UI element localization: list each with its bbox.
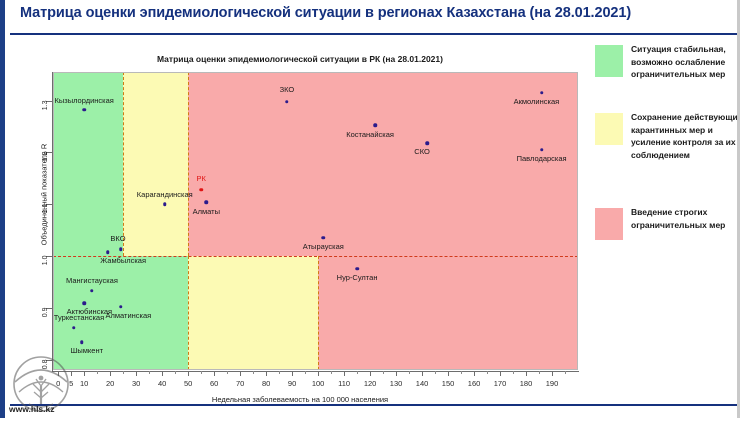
x-tick: [84, 371, 85, 376]
x-tick: [240, 371, 241, 376]
watermark-url: www.hls.kz: [9, 404, 55, 414]
data-point-label: Карагандинская: [137, 190, 193, 199]
data-point[interactable]: [355, 267, 359, 271]
threshold-line-lower-100: [318, 256, 319, 370]
legend-label: Ситуация стабильная, возможно ослабление…: [631, 43, 740, 81]
threshold-line-upper-25: [123, 72, 124, 256]
x-tick-minor: [487, 371, 488, 374]
x-tick: [266, 371, 267, 376]
legend-swatch: [595, 45, 623, 77]
data-point-label: Акмолинская: [514, 97, 560, 106]
x-tick-minor: [253, 371, 254, 374]
x-tick-label: 70: [236, 379, 244, 388]
threshold-line-lower-50: [188, 256, 189, 370]
x-tick-label: 50: [184, 379, 192, 388]
data-point-label: Шымкент: [71, 346, 104, 355]
x-tick-label: 10: [80, 379, 88, 388]
x-tick: [214, 371, 215, 376]
y-tick-label: 0.9: [43, 307, 50, 317]
legend-swatch: [595, 113, 623, 145]
x-tick: [162, 371, 163, 376]
data-point-label: Мангистауская: [66, 276, 118, 285]
y-axis-line: [52, 72, 53, 371]
data-point[interactable]: [119, 305, 123, 309]
x-tick-minor: [305, 371, 306, 374]
page-title: Матрица оценки эпидемиологической ситуац…: [20, 5, 631, 21]
x-tick-label: 100: [312, 379, 325, 388]
data-point[interactable]: [374, 124, 378, 128]
data-point[interactable]: [80, 340, 84, 344]
x-tick: [292, 371, 293, 376]
x-tick-label: 140: [416, 379, 429, 388]
x-tick-minor: [409, 371, 410, 374]
x-tick: [526, 371, 527, 376]
y-axis-label: Объединенный показатель R: [39, 144, 48, 246]
slide-frame: Матрица оценки эпидемиологической ситуац…: [0, 0, 740, 418]
data-point-label: Павлодарская: [517, 154, 567, 163]
y-tick-label: 1.3: [43, 100, 50, 110]
x-tick-minor: [565, 371, 566, 374]
x-tick-label: 30: [132, 379, 140, 388]
threshold-line-upper-50: [188, 72, 189, 256]
data-point[interactable]: [285, 100, 289, 104]
x-tick: [344, 371, 345, 376]
x-tick: [136, 371, 137, 376]
x-tick-minor: [175, 371, 176, 374]
legend-label: Введение строгих ограничительных мер: [631, 206, 740, 231]
x-tick-label: 120: [364, 379, 377, 388]
data-point-label: Нур-Султан: [337, 273, 378, 282]
legend-label: Сохранение действующих карантинных мер и…: [631, 111, 740, 161]
zone-yellow-lower: [188, 256, 318, 370]
x-tick-minor: [435, 371, 436, 374]
data-point-label: Алматинская: [105, 311, 151, 320]
data-point-label: СКО: [414, 147, 430, 156]
data-point[interactable]: [119, 247, 123, 251]
x-tick: [448, 371, 449, 376]
x-tick: [318, 371, 319, 376]
data-point[interactable]: [540, 148, 544, 152]
x-tick-label: 150: [442, 379, 455, 388]
x-axis-label: Недельная заболеваемость на 100 000 насе…: [10, 395, 590, 404]
data-point-label: ЗКО: [280, 85, 295, 94]
x-tick-minor: [513, 371, 514, 374]
data-point[interactable]: [106, 251, 110, 255]
data-point[interactable]: [163, 202, 167, 206]
chart-title: Матрица оценки эпидемиологической ситуац…: [10, 54, 590, 64]
footer-divider: [10, 404, 740, 406]
x-tick-minor: [227, 371, 228, 374]
x-tick: [396, 371, 397, 376]
data-point[interactable]: [82, 301, 86, 305]
x-tick-minor: [383, 371, 384, 374]
x-tick: [552, 371, 553, 376]
legend: Ситуация стабильная, возможно ослабление…: [595, 45, 740, 265]
x-tick-minor: [97, 371, 98, 374]
x-tick-label: 80: [262, 379, 270, 388]
x-tick-minor: [331, 371, 332, 374]
x-tick: [370, 371, 371, 376]
data-point-label: Алматы: [193, 207, 220, 216]
x-tick-label: 60: [210, 379, 218, 388]
x-tick-minor: [149, 371, 150, 374]
data-point[interactable]: [322, 236, 326, 240]
data-point-label: Жамбылская: [100, 256, 146, 265]
y-tick-label: 1.0: [43, 255, 50, 265]
data-point[interactable]: [426, 141, 430, 145]
data-point-label: Кызылординская: [55, 96, 114, 105]
chart-panel: Матрица оценки эпидемиологической ситуац…: [10, 40, 590, 410]
x-tick-minor: [279, 371, 280, 374]
x-tick: [422, 371, 423, 376]
x-tick-label: 190: [546, 379, 559, 388]
x-tick-label: 170: [494, 379, 507, 388]
data-point[interactable]: [82, 108, 86, 112]
data-point-label: Атырауская: [303, 242, 344, 251]
x-tick-label: 90: [288, 379, 296, 388]
data-point-label: Костанайская: [346, 130, 394, 139]
x-tick-label: 160: [468, 379, 481, 388]
x-tick-label: 110: [338, 379, 350, 388]
data-point-label: РК: [196, 174, 205, 183]
x-tick-label: 40: [158, 379, 166, 388]
x-tick-label: 180: [520, 379, 533, 388]
x-tick: [110, 371, 111, 376]
x-tick-minor: [539, 371, 540, 374]
data-point[interactable]: [72, 326, 76, 330]
x-tick: [188, 371, 189, 376]
plot-area: КызылординскаяЗКОАкмолинскаяКостанайская…: [53, 72, 578, 370]
legend-swatch: [595, 208, 623, 240]
header-divider: [10, 33, 740, 35]
data-point[interactable]: [90, 289, 94, 293]
x-tick-minor: [201, 371, 202, 374]
data-point-label: ВКО: [110, 234, 125, 243]
data-point-label: Туркестанская: [54, 313, 104, 322]
slide-header: Матрица оценки эпидемиологической ситуац…: [10, 0, 740, 34]
x-tick: [500, 371, 501, 376]
data-point[interactable]: [199, 188, 203, 192]
data-point[interactable]: [205, 200, 209, 204]
x-tick: [474, 371, 475, 376]
data-point[interactable]: [540, 91, 544, 95]
zone-yellow-upper: [123, 72, 188, 256]
x-tick-minor: [123, 371, 124, 374]
x-tick-minor: [461, 371, 462, 374]
x-tick-minor: [357, 371, 358, 374]
x-tick-label: 130: [390, 379, 403, 388]
x-tick-label: 20: [106, 379, 114, 388]
